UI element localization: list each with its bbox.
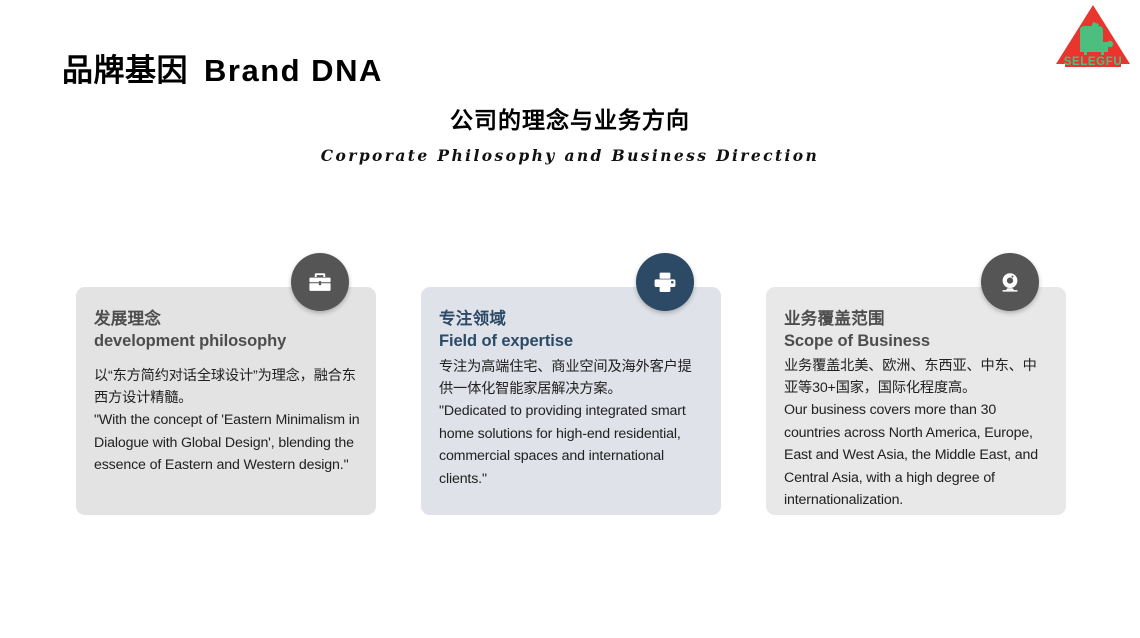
section-heading-en: Corporate Philosophy and Business Direct… [0,146,1140,165]
card-title-en: Scope of Business [784,331,1050,353]
page-title: 品牌基因Brand DNA [62,45,383,90]
card-title-cn: 业务覆盖范围 [784,309,1050,331]
card-development-philosophy: 发展理念 development philosophy 以“东方简约对话全球设计… [76,287,376,515]
toolbox-icon-glyph [306,268,334,296]
card-title-en: development philosophy [94,331,360,353]
section-heading-cn: 公司的理念与业务方向 [0,106,1140,135]
page-title-cn: 品牌基因 [62,53,188,88]
card-body: 以“东方简约对话全球设计”为理念，融合东西方设计精髓。 "With the co… [94,365,366,477]
card-title-cn: 发展理念 [94,309,360,331]
card-body: 专注为高端住宅、商业空间及海外客户提供一体化智能家居解决方案。 "Dedicat… [439,356,701,491]
card-scope-of-business: 业务覆盖范围 Scope of Business 业务覆盖北美、欧洲、东西亚、中… [766,287,1066,515]
logo-wordmark: SELEGFU [1064,56,1123,68]
webcam-icon [981,253,1039,311]
logo-mark: SELEGFU [1053,2,1133,76]
card-title-cn: 专注领域 [439,309,705,331]
printer-icon [636,253,694,311]
toolbox-icon [291,253,349,311]
card-title-en: Field of expertise [439,331,705,353]
card-body: 业务覆盖北美、欧洲、东西亚、中东、中亚等30+国家，国际化程度高。 Our bu… [784,355,1049,512]
page-title-en: Brand DNA [204,53,383,88]
selegfu-logo: SELEGFU [1053,2,1133,76]
webcam-icon-glyph [996,268,1024,296]
card-field-of-expertise: 专注领域 Field of expertise 专注为高端住宅、商业空间及海外客… [421,287,721,515]
section-heading: 公司的理念与业务方向 Corporate Philosophy and Busi… [0,106,1140,165]
printer-icon-glyph [651,268,679,296]
